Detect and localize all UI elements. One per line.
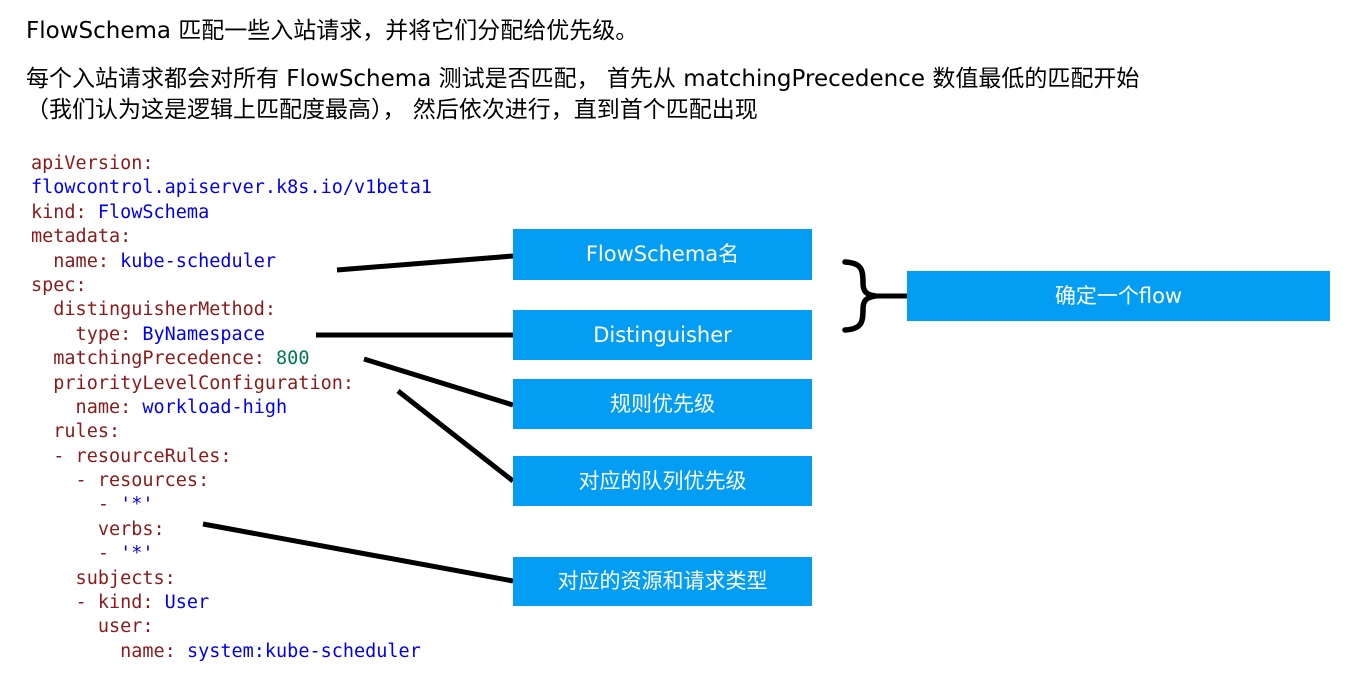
yaml-line-api-version-value: flowcontrol.apiserver.k8s.io/v1beta1 [31,176,432,200]
yaml-token: flowcontrol.apiserver.k8s.io/v1beta1 [31,177,432,198]
callout-rule-priority[interactable]: 规则优先级 [513,379,812,429]
yaml-token: - [31,543,120,564]
yaml-token: type: [31,324,142,345]
yaml-token: subjects: [31,568,176,589]
callout-distinguisher[interactable]: Distinguisher [513,310,812,360]
yaml-token: rules: [31,421,120,442]
yaml-token: - [31,494,120,515]
yaml-line-metadata-name: name: kube-scheduler [31,250,432,274]
yaml-token: kube-scheduler [120,251,276,272]
yaml-line-resource-rules: - resourceRules: [31,445,432,469]
yaml-token: FlowSchema [98,202,209,223]
yaml-token: priorityLevelConfiguration: [31,373,354,394]
yaml-token: workload-high [142,397,287,418]
yaml-token: name: [31,397,142,418]
yaml-line-kind: kind: FlowSchema [31,201,432,225]
yaml-token: - resources: [31,470,209,491]
slide-canvas: FlowSchema 匹配一些入站请求，并将它们分配给优先级。 每个入站请求都会… [0,0,1362,686]
yaml-token: distinguisherMethod: [31,299,276,320]
yaml-token: spec: [31,275,87,296]
yaml-line-distinguisher-type: type: ByNamespace [31,323,432,347]
yaml-line-verbs-item: - '*' [31,542,432,566]
yaml-line-api-version-key: apiVersion: [31,152,432,176]
grouping-brace [845,262,876,330]
yaml-line-distinguisher-method: distinguisherMethod: [31,298,432,322]
yaml-token: ByNamespace [142,324,265,345]
yaml-line-subjects: subjects: [31,567,432,591]
yaml-line-subject-kind: - kind: User [31,591,432,615]
yaml-token: apiVersion: [31,153,154,174]
yaml-token: 800 [276,348,309,369]
yaml-line-resources-item: - '*' [31,493,432,517]
yaml-line-matching-precedence: matchingPrecedence: 800 [31,347,432,371]
yaml-token: - kind: [31,592,165,613]
yaml-code-block: apiVersion:flowcontrol.apiserver.k8s.io/… [31,152,432,664]
yaml-token: metadata: [31,226,131,247]
callout-define-flow[interactable]: 确定一个flow [907,271,1330,321]
yaml-line-user-name: name: system:kube-scheduler [31,640,432,664]
yaml-token: User [165,592,210,613]
callout-resource-and-verb[interactable]: 对应的资源和请求类型 [513,557,812,606]
yaml-line-spec: spec: [31,274,432,298]
yaml-token: kind: [31,202,98,223]
yaml-token: system:kube-scheduler [187,641,421,662]
yaml-line-priority-level-config: priorityLevelConfiguration: [31,372,432,396]
yaml-line-resources: - resources: [31,469,432,493]
yaml-token: - resourceRules: [31,446,231,467]
yaml-line-priority-level-name: name: workload-high [31,396,432,420]
yaml-token: verbs: [31,519,165,540]
yaml-token: matchingPrecedence: [31,348,276,369]
callout-flowschema-name[interactable]: FlowSchema名 [513,229,812,280]
yaml-token: name: [31,641,187,662]
callout-queue-priority[interactable]: 对应的队列优先级 [513,456,812,506]
yaml-line-verbs: verbs: [31,518,432,542]
yaml-line-user: user: [31,615,432,639]
intro-paragraph-1: FlowSchema 匹配一些入站请求，并将它们分配给优先级。 [26,16,638,46]
intro-paragraph-2: 每个入站请求都会对所有 FlowSchema 测试是否匹配， 首先从 match… [26,64,1356,126]
yaml-token: '*' [120,543,153,564]
yaml-token: name: [31,251,120,272]
yaml-line-metadata: metadata: [31,225,432,249]
yaml-token: user: [31,616,154,637]
yaml-token: '*' [120,494,153,515]
yaml-line-rules: rules: [31,420,432,444]
